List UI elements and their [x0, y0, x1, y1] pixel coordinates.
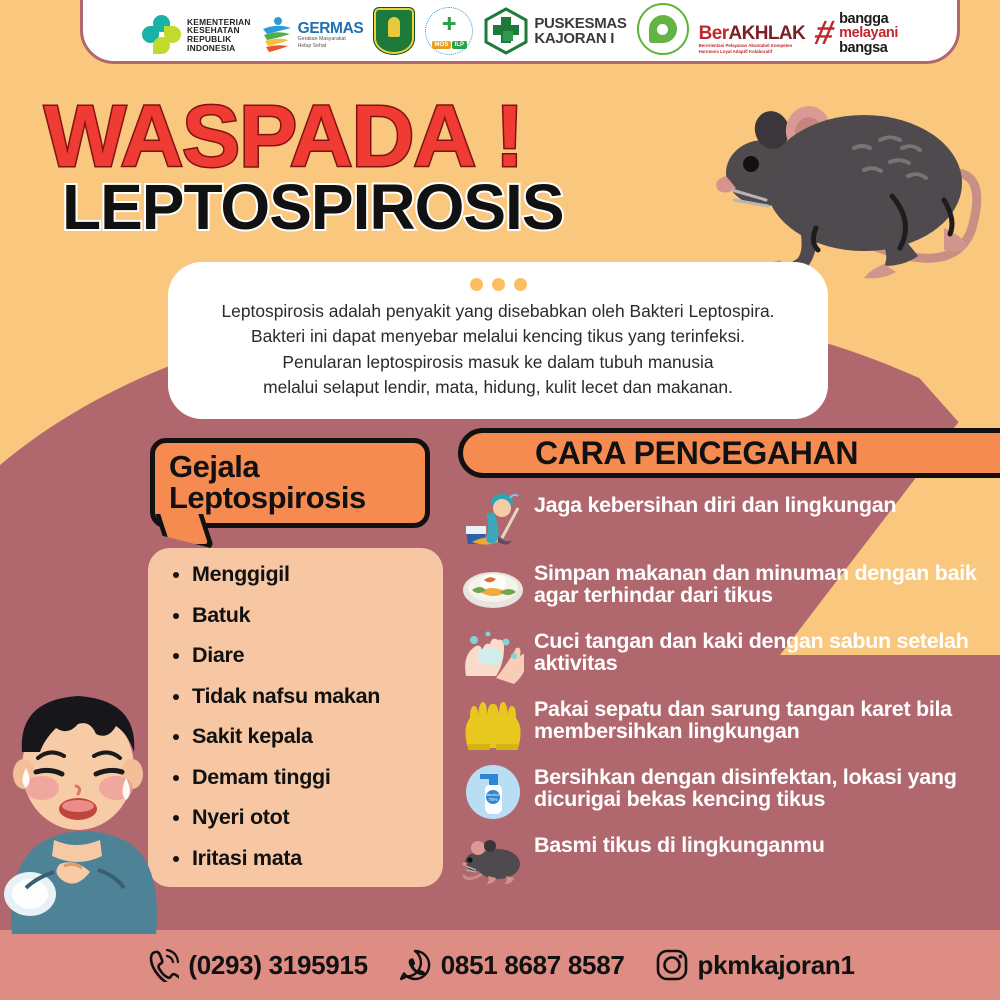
symptoms-heading-line2: Leptospirosis [169, 480, 366, 515]
mos-ilp-icon: MOS ILP [425, 7, 473, 55]
hashtag-icon: # [812, 20, 837, 47]
germas-icon [261, 15, 293, 55]
prevention-heading-banner: CARA PENCEGAHAN [458, 428, 1000, 478]
washing-hands-icon [462, 628, 524, 684]
dots-decoration [190, 278, 806, 291]
list-item: Pakai sepatu dan sarung tangan karet bil… [462, 696, 1000, 752]
info-line-2: Bakteri ini dapat menyebar melalui kenci… [190, 324, 806, 349]
logo-puskesmas-kajoran: PUSKESMAS KAJORAN I [483, 7, 626, 55]
puskesmas-label: PUSKESMAS KAJORAN I [534, 16, 626, 47]
symptoms-list: Menggigil Batuk Diare Tidak nafsu makan … [166, 564, 433, 869]
logo-germas: GERMAS Gerakan Masyarakat Hidup Sehat [261, 15, 364, 55]
symptoms-card: Menggigil Batuk Diare Tidak nafsu makan … [148, 548, 443, 887]
rat-illustration [704, 78, 994, 293]
logo-bangga-melayani-bangsa: # bangga melayani bangsa [815, 12, 898, 56]
whatsapp-icon [398, 948, 432, 982]
germas-label: GERMAS Gerakan Masyarakat Hidup Sehat [298, 21, 364, 50]
contact-whatsapp[interactable]: 0851 8687 8587 [398, 948, 625, 982]
contact-value: (0293) 3195915 [188, 950, 367, 981]
logo-berakhlak: BerAKHLAK Berorientasi Pelayanan Akuntab… [699, 24, 806, 55]
list-item: Nyeri otot [192, 807, 433, 829]
list-item: Diare [192, 645, 433, 667]
poster-root: KEMENTERIAN KESEHATAN REPUBLIK INDONESIA… [0, 0, 1000, 1000]
mopping-person-icon [462, 492, 524, 548]
green-cross-hex-icon [483, 7, 529, 55]
food-plate-icon [462, 560, 524, 616]
title-waspada: WASPADA ! [44, 96, 564, 179]
prevention-heading-text: CARA PENCEGAHAN [463, 435, 858, 472]
disinfectant-bottle-icon: alcohol 75% [462, 764, 524, 820]
contact-phone[interactable]: (0293) 3195915 [145, 948, 367, 982]
info-line-1: Leptospirosis adalah penyakit yang diseb… [190, 299, 806, 324]
list-item: alcohol 75% Bersihkan dengan disinfektan… [462, 764, 1000, 820]
prevention-list: Jaga kebersihan diri dan lingkungan Simp… [462, 492, 1000, 900]
contact-instagram[interactable]: pkmkajoran1 [655, 948, 855, 982]
rubber-gloves-icon [462, 696, 524, 752]
list-item: Iritasi mata [192, 848, 433, 870]
phone-icon [145, 948, 179, 982]
svg-text:75%: 75% [488, 797, 497, 802]
info-card: Leptospirosis adalah penyakit yang diseb… [168, 262, 828, 419]
kemenkes-icon [142, 15, 182, 55]
logo-kemenkes: KEMENTERIAN KESEHATAN REPUBLIK INDONESIA [142, 15, 251, 55]
info-line-3: Penularan leptospirosis masuk ke dalam t… [190, 350, 806, 375]
contact-value: pkmkajoran1 [698, 950, 855, 981]
kabupaten-crest-icon [373, 7, 415, 55]
list-item: Simpan makanan dan minuman dengan baik a… [462, 560, 1000, 616]
list-item: Jaga kebersihan diri dan lingkungan [462, 492, 1000, 548]
footer-contacts: (0293) 3195915 0851 8687 8587 pkmkajoran… [0, 930, 1000, 1000]
list-item: Sakit kepala [192, 726, 433, 748]
symptoms-heading-bubble: Gejala Leptospirosis [150, 438, 430, 528]
list-item: Menggigil [192, 564, 433, 586]
prevention-text: Basmi tikus di lingkunganmu [534, 832, 825, 856]
prevention-text: Simpan makanan dan minuman dengan baik a… [534, 560, 1000, 607]
list-item: Demam tinggi [192, 767, 433, 789]
rat-icon [462, 832, 524, 888]
header-logo-band: KEMENTERIAN KESEHATAN REPUBLIK INDONESIA… [80, 0, 960, 64]
list-item: Tidak nafsu makan [192, 686, 433, 708]
prevention-text: Pakai sepatu dan sarung tangan karet bil… [534, 696, 1000, 743]
contact-value: 0851 8687 8587 [441, 950, 625, 981]
prevention-text: Jaga kebersihan diri dan lingkungan [534, 492, 896, 516]
list-item: Batuk [192, 605, 433, 627]
title-leptospirosis: LEPTOSPIROSIS [62, 175, 564, 239]
page-title: WASPADA ! LEPTOSPIROSIS [44, 96, 564, 239]
symptoms-heading-line1: Gejala [169, 449, 259, 484]
instagram-icon [655, 948, 689, 982]
list-item: Cuci tangan dan kaki dengan sabun setela… [462, 628, 1000, 684]
keren-icon [637, 3, 689, 55]
sick-boy-illustration [0, 676, 169, 934]
berakhlak-wordmark: BerAKHLAK [699, 24, 806, 43]
prevention-text: Cuci tangan dan kaki dengan sabun setela… [534, 628, 1000, 675]
kemenkes-label: KEMENTERIAN KESEHATAN REPUBLIK INDONESIA [187, 18, 251, 52]
list-item: Basmi tikus di lingkunganmu [462, 832, 1000, 888]
prevention-text: Bersihkan dengan disinfektan, lokasi yan… [534, 764, 1000, 811]
info-line-4: melalui selaput lendir, mata, hidung, ku… [190, 375, 806, 400]
